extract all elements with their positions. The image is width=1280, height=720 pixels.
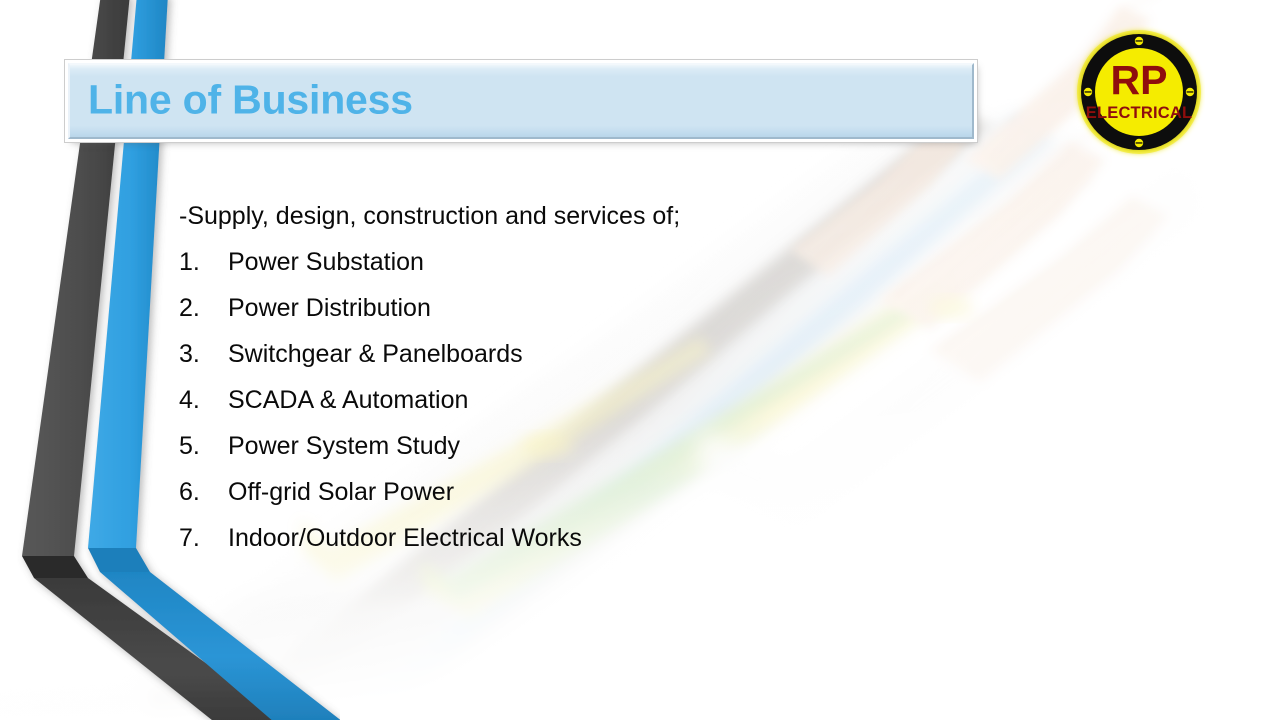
chevron-gray-lower [34, 578, 340, 720]
list-item: 2. Power Distribution [179, 285, 919, 331]
content-body: -Supply, design, construction and servic… [179, 193, 919, 561]
page-title: Line of Business [88, 77, 413, 124]
list-item-label: Off-grid Solar Power [228, 469, 454, 515]
rp-electrical-logo: RP ELECTRICAL [1073, 22, 1205, 162]
list-item: 3. Switchgear & Panelboards [179, 331, 919, 377]
list-item: 6. Off-grid Solar Power [179, 469, 919, 515]
list-item-number: 3. [179, 331, 228, 377]
list-item-number: 1. [179, 239, 228, 285]
list-item: 1. Power Substation [179, 239, 919, 285]
logo-initials: RP [1111, 57, 1168, 103]
chevron-blue-lower [100, 572, 340, 720]
list-item-label: Power System Study [228, 423, 460, 469]
list-item-label: SCADA & Automation [228, 377, 468, 423]
list-item-number: 4. [179, 377, 228, 423]
list-item-label: Power Distribution [228, 285, 431, 331]
lead-text: -Supply, design, construction and servic… [179, 193, 919, 239]
slide-canvas: Line of Business -Supply, design, constr… [0, 0, 1280, 720]
list-item-number: 6. [179, 469, 228, 515]
list-item-label: Indoor/Outdoor Electrical Works [228, 515, 582, 561]
list-item: 7. Indoor/Outdoor Electrical Works [179, 515, 919, 561]
list-item-label: Power Substation [228, 239, 424, 285]
list-item: 5. Power System Study [179, 423, 919, 469]
list-item-number: 7. [179, 515, 228, 561]
list-item: 4. SCADA & Automation [179, 377, 919, 423]
title-plaque: Line of Business [68, 63, 974, 139]
list-item-number: 2. [179, 285, 228, 331]
logo-wordmark: ELECTRICAL [1086, 104, 1193, 122]
list-item-number: 5. [179, 423, 228, 469]
list-item-label: Switchgear & Panelboards [228, 331, 523, 377]
